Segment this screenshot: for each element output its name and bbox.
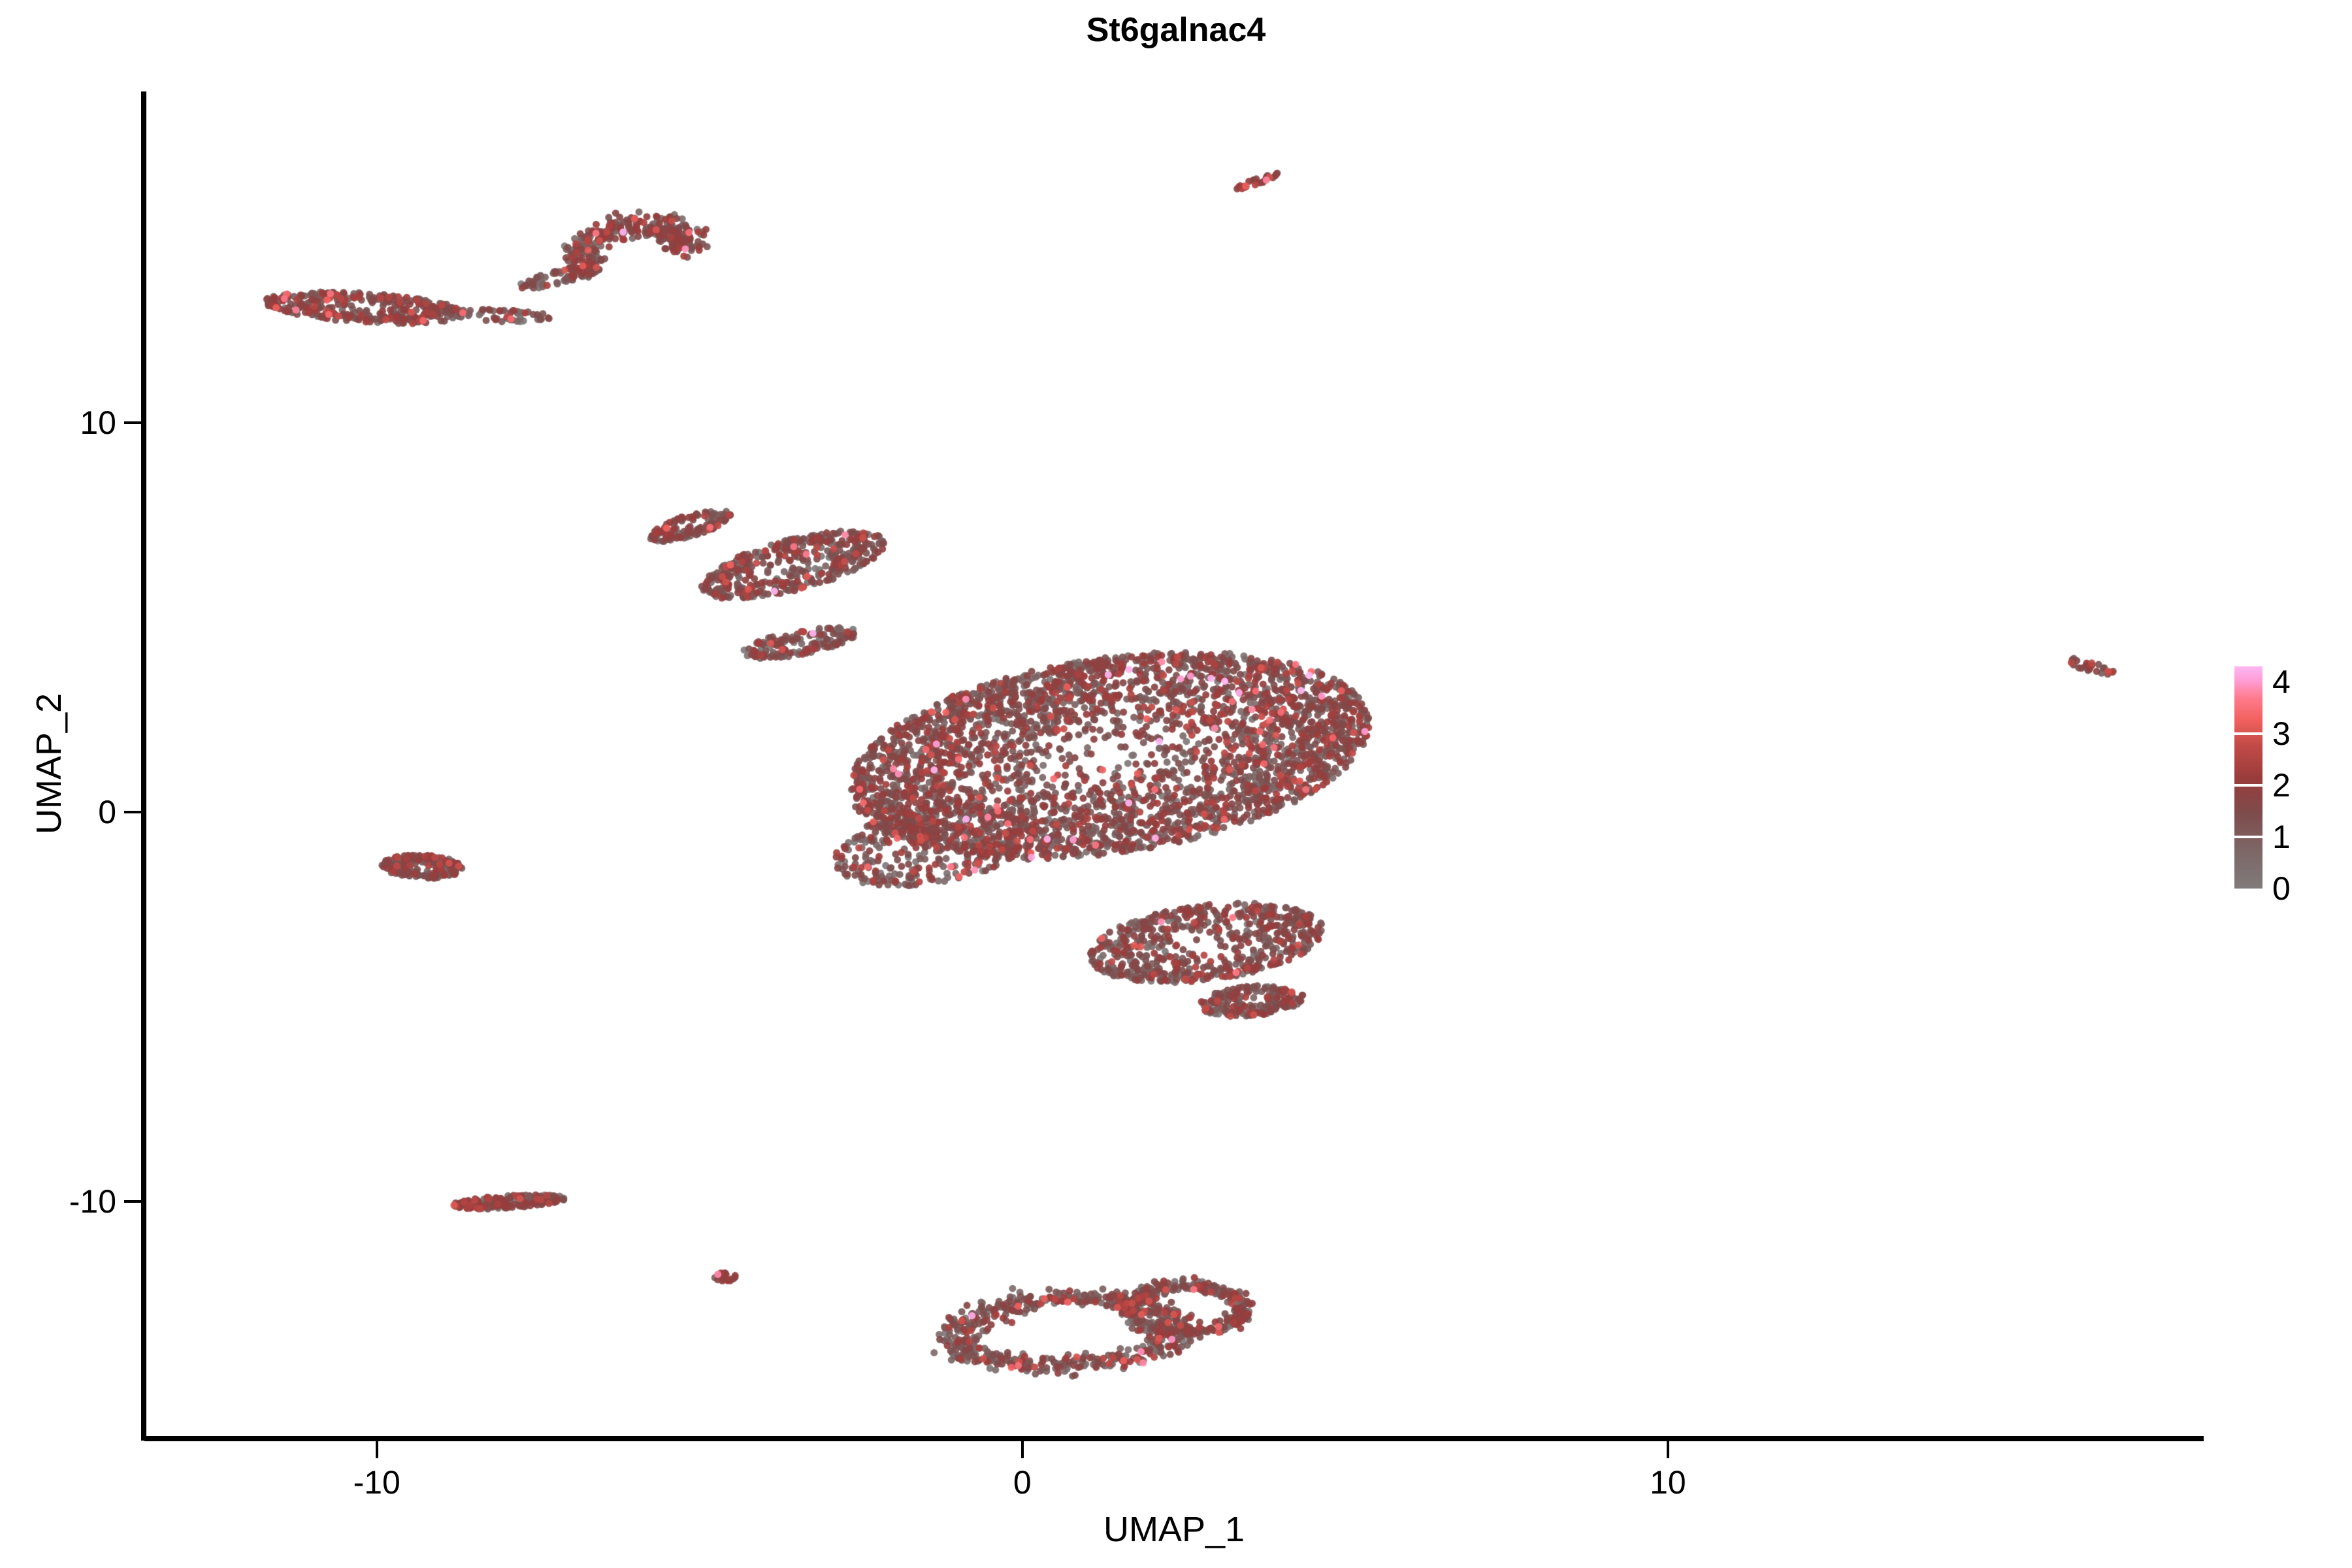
y-axis-line	[141, 91, 146, 1441]
page-title: St6galnac4	[0, 10, 2352, 50]
colorbar-tick-label: 2	[2272, 766, 2291, 804]
colorbar-gradient	[2234, 666, 2262, 889]
x-tick-label: 10	[1650, 1463, 1686, 1501]
colorbar-tick-mark	[2234, 732, 2262, 735]
x-axis-title: UMAP_1	[144, 1509, 2204, 1550]
y-tick-mark	[124, 1200, 141, 1203]
colorbar-tick-label: 4	[2272, 663, 2291, 701]
y-tick-mark	[124, 421, 141, 424]
scatter-plot-canvas	[144, 91, 2204, 1439]
x-tick-label: 0	[1013, 1463, 1032, 1501]
y-tick-label: 10	[0, 404, 116, 442]
y-tick-mark	[124, 811, 141, 813]
x-tick-label: -10	[353, 1463, 400, 1501]
y-axis-title: UMAP_2	[29, 437, 69, 1090]
colorbar-tick-mark	[2234, 836, 2262, 838]
x-tick-mark	[1667, 1441, 1669, 1458]
x-axis-line	[144, 1436, 2204, 1441]
y-tick-label: -10	[0, 1183, 116, 1220]
legend-colorbar: 01234	[2234, 666, 2339, 889]
figure-root: St6galnac4 -10010 -10010 UMAP_1 UMAP_2 0…	[0, 0, 2352, 1568]
colorbar-tick-label: 0	[2272, 870, 2291, 907]
colorbar-tick-mark	[2234, 784, 2262, 787]
x-tick-mark	[376, 1441, 378, 1458]
colorbar-tick-label: 1	[2272, 818, 2291, 856]
colorbar-tick-label: 3	[2272, 715, 2291, 753]
x-tick-mark	[1021, 1441, 1024, 1458]
